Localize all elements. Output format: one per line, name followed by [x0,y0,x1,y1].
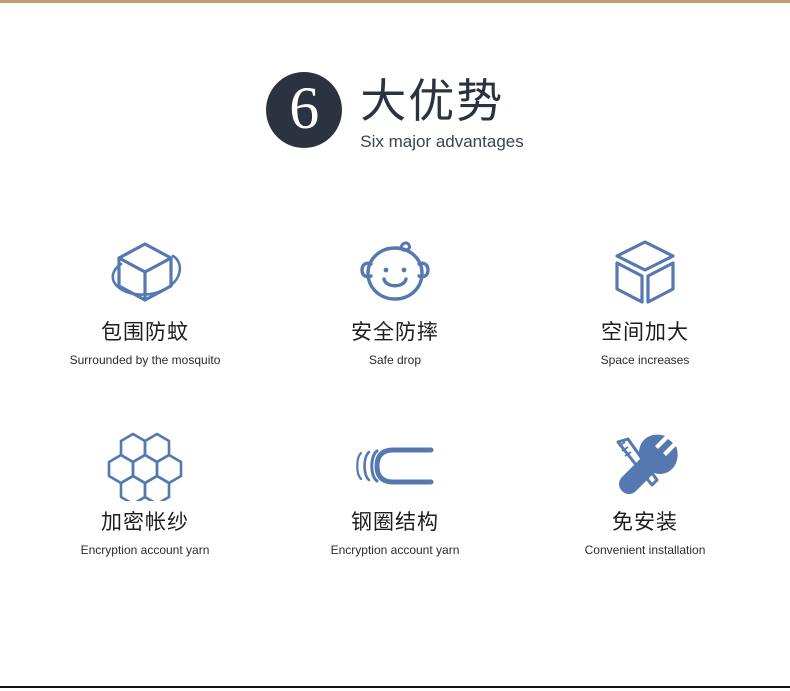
feature-title: 钢圈结构 [351,510,439,536]
baby-face-icon [352,234,438,312]
feature-item: 免安装 Convenient installation [520,430,770,600]
feature-title: 包围防蚊 [101,320,189,346]
feature-title: 加密帐纱 [101,510,189,536]
feature-grid: 包围防蚊 Surrounded by the mosquito 安全防摔 Saf… [20,234,770,600]
exploded-cube-icon [602,234,688,312]
feature-subtitle: Safe drop [369,353,421,368]
feature-title: 安全防摔 [351,320,439,346]
page-header: 6 大优势 Six major advantages [0,72,790,152]
feature-subtitle: Space increases [601,353,690,368]
cube-with-net-icon [102,234,188,312]
feature-subtitle: Surrounded by the mosquito [70,353,221,368]
feature-item: 加密帐纱 Encryption account yarn [20,430,270,600]
honeycomb-icon [102,430,188,502]
feature-title: 免安装 [612,510,678,536]
feature-subtitle: Encryption account yarn [81,543,210,558]
number-badge: 6 [266,72,342,148]
feature-title: 空间加大 [601,320,689,346]
feature-subtitle: Convenient installation [585,543,706,558]
bottom-divider-rule [0,686,790,688]
feature-item: 钢圈结构 Encryption account yarn [270,430,520,600]
top-divider-rule [0,0,790,3]
feature-subtitle: Encryption account yarn [331,543,460,558]
feature-item: 安全防摔 Safe drop [270,234,520,430]
coil-spring-icon [352,430,438,502]
feature-item: 包围防蚊 Surrounded by the mosquito [20,234,270,430]
page-title: 大优势 [360,74,504,128]
wrench-screwdriver-icon [602,430,688,502]
advantages-poster: 6 大优势 Six major advantages 包围防蚊 Surround… [0,0,790,691]
feature-item: 空间加大 Space increases [520,234,770,430]
page-subtitle: Six major advantages [360,132,523,152]
